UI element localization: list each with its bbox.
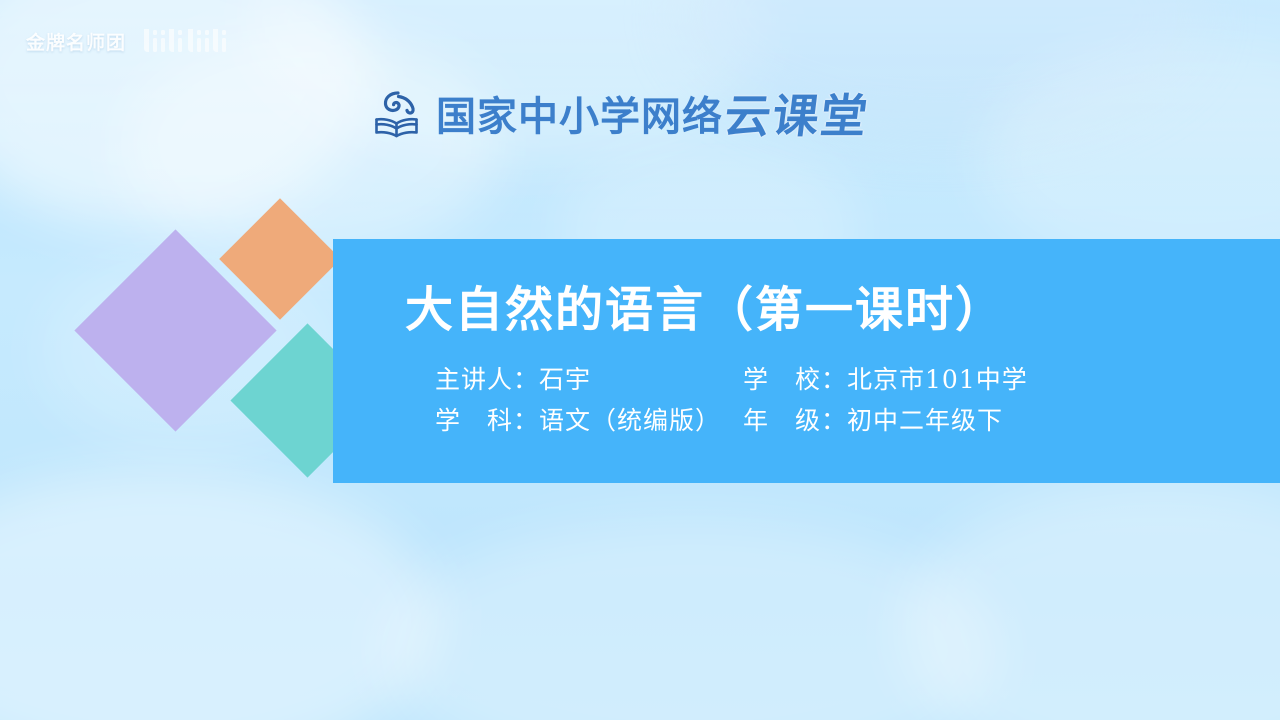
lesson-meta-table: 主讲人： 石宇 学 校： 北京市101中学 学 科： 语文（统编版） 年 级： [401, 363, 1240, 439]
meta-school: 学 校： 北京市101中学 [731, 363, 1028, 397]
lesson-title-slide: 金牌名师团 [0, 0, 1280, 720]
title-banner: 大自然的语言（第一课时） 主讲人： 石宇 学 校： 北京市101中学 学 科： [333, 239, 1280, 483]
meta-label-grade: 年 级： [743, 404, 847, 438]
logo-word-accent: 云课堂 [722, 93, 872, 139]
logo-word-main: 国家中小学网络 [436, 97, 723, 137]
meta-label-school: 学 校： [743, 363, 847, 397]
meta-value-grade: 初中二年级下 [847, 404, 1003, 438]
site-logo: 国家中小学网络 云课堂 [372, 88, 869, 140]
meta-row: 主讲人： 石宇 学 校： 北京市101中学 [401, 363, 1240, 397]
meta-value-subject: 语文（统编版） [539, 404, 721, 438]
meta-value-presenter: 石宇 [539, 363, 591, 397]
meta-presenter: 主讲人： 石宇 [401, 363, 731, 397]
logo-wordmark: 国家中小学网络 云课堂 [436, 91, 869, 137]
meta-subject: 学 科： 语文（统编版） [401, 404, 731, 438]
meta-label-presenter: 主讲人： [435, 363, 539, 397]
page-title: 大自然的语言（第一课时） [405, 284, 1240, 337]
meta-label-subject: 学 科： [435, 404, 539, 438]
book-wave-icon [372, 88, 422, 140]
meta-value-school: 北京市101中学 [847, 363, 1028, 397]
meta-row: 学 科： 语文（统编版） 年 级： 初中二年级下 [401, 404, 1240, 438]
meta-grade: 年 级： 初中二年级下 [731, 404, 1003, 438]
